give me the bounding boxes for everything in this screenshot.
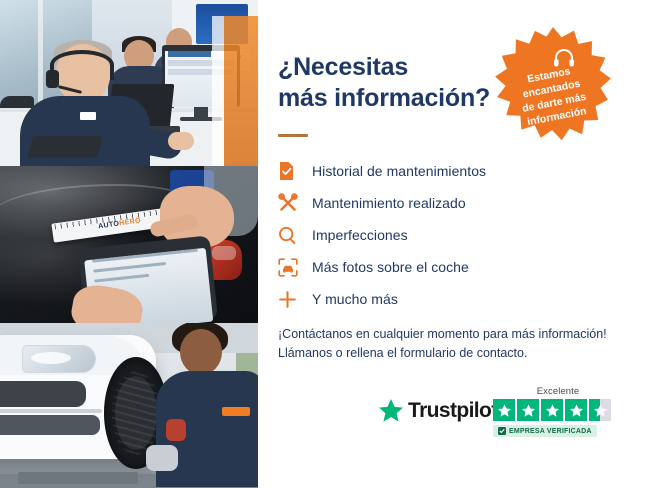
feature-item-fotos: Más fotos sobre el coche <box>278 251 618 283</box>
verified-business-badge: EMPRESA VERIFICADA <box>493 425 597 437</box>
feature-label: Más fotos sobre el coche <box>312 259 469 275</box>
star-1 <box>493 399 515 421</box>
mechanic-tool <box>166 419 186 441</box>
star-rating <box>493 399 623 421</box>
feature-item-mantenimiento: Mantenimiento realizado <box>278 187 618 219</box>
feature-label: Imperfecciones <box>312 227 408 243</box>
star-3 <box>541 399 563 421</box>
contact-line-2: Llámanos o rellena el formulario de cont… <box>278 344 638 363</box>
feature-item-mas: Y mucho más <box>278 283 618 315</box>
car-chrome-trim <box>0 409 102 413</box>
call-center-agents-photo <box>0 0 258 166</box>
car-headlight <box>22 345 96 373</box>
mechanic-glove <box>146 445 178 471</box>
contact-line-1: ¡Contáctanos en cualquier momento para m… <box>278 325 638 344</box>
feature-label: Historial de mantenimientos <box>312 163 486 179</box>
verified-label: EMPRESA VERIFICADA <box>509 428 592 435</box>
car-lift-arm <box>18 472 138 484</box>
trustpilot-logo: Trustpilot <box>378 398 498 423</box>
tail-light-glare <box>212 246 236 260</box>
feature-label: Y mucho más <box>312 291 398 307</box>
content-panel: ¿Necesitas más información? Estamos enca… <box>258 0 650 488</box>
trustpilot-star-icon <box>378 398 404 423</box>
wrench-screwdriver-icon <box>278 193 312 213</box>
contact-text: ¡Contáctanos en cualquier momento para m… <box>278 325 638 364</box>
monitor-stand <box>194 107 208 117</box>
car-grille-lower <box>0 415 100 435</box>
star-2 <box>517 399 539 421</box>
trustpilot-rating: Excelente <box>493 386 623 440</box>
mechanic-wheel-photo <box>0 323 258 488</box>
document-check-icon <box>278 161 312 181</box>
agent-name-badge <box>80 112 96 120</box>
photo-column: AUTOHERO <box>0 0 258 488</box>
feature-item-imperfecciones: Imperfecciones <box>278 219 618 251</box>
plus-icon <box>278 290 312 309</box>
info-banner: AUTOHERO <box>0 0 650 488</box>
headset-earcup <box>46 70 59 88</box>
headline-line-1: ¿Necesitas <box>278 52 528 83</box>
title-divider <box>278 134 308 137</box>
headset-band <box>50 50 114 80</box>
promo-badge: Estamos encantados de darte más informac… <box>493 25 613 145</box>
car-scan-icon <box>278 258 312 277</box>
trustpilot-wordmark: Trustpilot <box>408 399 498 423</box>
car-grille-upper <box>0 381 86 407</box>
desk-tablet <box>27 136 103 158</box>
star-5-half <box>589 399 611 421</box>
feature-list: Historial de mantenimientos Mantenimient… <box>278 155 618 315</box>
mechanic-uniform-logo <box>222 407 250 416</box>
orange-banner-strip <box>224 16 258 166</box>
feature-item-historial: Historial de mantenimientos <box>278 155 618 187</box>
magnifier-icon <box>278 226 312 245</box>
car-inspection-ruler-photo: AUTOHERO <box>0 166 258 323</box>
agent-hand <box>168 132 194 150</box>
feature-label: Mantenimiento realizado <box>312 195 466 211</box>
mechanic-head <box>180 329 222 375</box>
verified-check-icon <box>498 427 506 435</box>
star-4 <box>565 399 587 421</box>
rating-label: Excelente <box>493 386 623 397</box>
trustpilot-widget[interactable]: Trustpilot Excelente <box>378 386 628 452</box>
divider-strip <box>212 16 224 166</box>
